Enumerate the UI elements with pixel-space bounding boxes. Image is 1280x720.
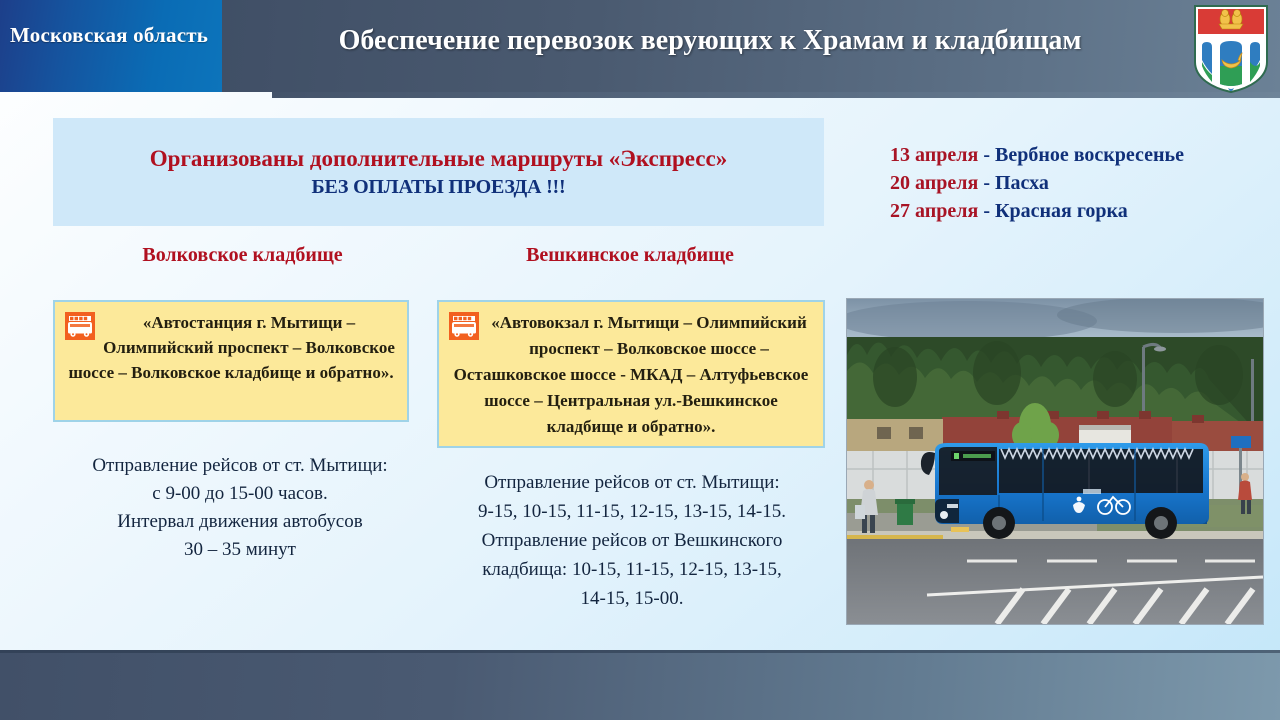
schedule-line: 9-15, 10-15, 11-15, 12-15, 13-15, 14-15. xyxy=(432,497,832,526)
date-separator: - xyxy=(978,144,995,166)
schedule-line: 14-15, 15-00. xyxy=(432,584,832,613)
date-separator: - xyxy=(978,172,995,194)
date-day: 13 апреля xyxy=(890,144,978,166)
region-label: Московская область xyxy=(10,22,215,48)
route-card-left: «Автостанция г. Мытищи – Олимпийский про… xyxy=(53,300,409,422)
date-day: 27 апреля xyxy=(890,200,978,222)
schedule-line: Интервал движения автобусов xyxy=(45,508,435,536)
schedule-line: кладбища: 10-15, 11-15, 12-15, 13-15, xyxy=(432,555,832,584)
date-event-name: Вербное воскресенье xyxy=(995,144,1184,166)
schedule-line: Отправление рейсов от Вешкинского xyxy=(432,526,832,555)
page-title: Обеспечение перевозок верующих к Храмам … xyxy=(240,24,1180,58)
date-event-name: Красная горка xyxy=(995,200,1128,222)
schedule-line: с 9-00 до 15-00 часов. xyxy=(45,480,435,508)
schedule-left: Отправление рейсов от ст. Мытищи: с 9-00… xyxy=(45,452,435,564)
date-separator: - xyxy=(978,200,995,222)
slide-root: Московская область Обеспечение перевозок… xyxy=(0,0,1280,720)
date-event-name: Пасха xyxy=(995,172,1049,194)
date-row: 27 апреля - Красная горка xyxy=(890,197,1275,225)
route-card-right: «Автовокзал г. Мытищи – Олимпийский прос… xyxy=(437,300,825,448)
holiday-dates-list: 13 апреля - Вербное воскресенье 20 апрел… xyxy=(890,141,1275,225)
blue-city-bus-at-stop-photo xyxy=(846,298,1264,625)
header-gray-underbar xyxy=(272,92,1280,98)
cemetery-heading-left: Волковское кладбище xyxy=(55,242,430,268)
route-description-right: «Автовокзал г. Мытищи – Олимпийский прос… xyxy=(449,310,813,440)
promo-line-1: Организованы дополнительные маршруты «Эк… xyxy=(150,144,727,174)
promo-line-2: БЕЗ ОПЛАТЫ ПРОЕЗДА !!! xyxy=(312,174,566,201)
schedule-line: Отправление рейсов от ст. Мытищи: xyxy=(432,468,832,497)
date-row: 20 апреля - Пасха xyxy=(890,169,1275,197)
bus-icon xyxy=(65,312,95,340)
promo-banner: Организованы дополнительные маршруты «Эк… xyxy=(53,118,824,226)
mytishchi-coat-of-arms-icon xyxy=(1192,4,1270,94)
schedule-line: Отправление рейсов от ст. Мытищи: xyxy=(45,452,435,480)
cemetery-heading-right: Вешкинское кладбище xyxy=(435,242,825,268)
route-description-left: «Автостанция г. Мытищи – Олимпийский про… xyxy=(65,310,397,385)
date-row: 13 апреля - Вербное воскресенье xyxy=(890,141,1275,169)
slide-header: Московская область Обеспечение перевозок… xyxy=(0,0,1280,92)
schedule-line: 30 – 35 минут xyxy=(45,536,435,564)
footer-band xyxy=(0,650,1280,720)
schedule-right: Отправление рейсов от ст. Мытищи: 9-15, … xyxy=(432,468,832,613)
bus-icon xyxy=(449,312,479,340)
date-day: 20 апреля xyxy=(890,172,978,194)
